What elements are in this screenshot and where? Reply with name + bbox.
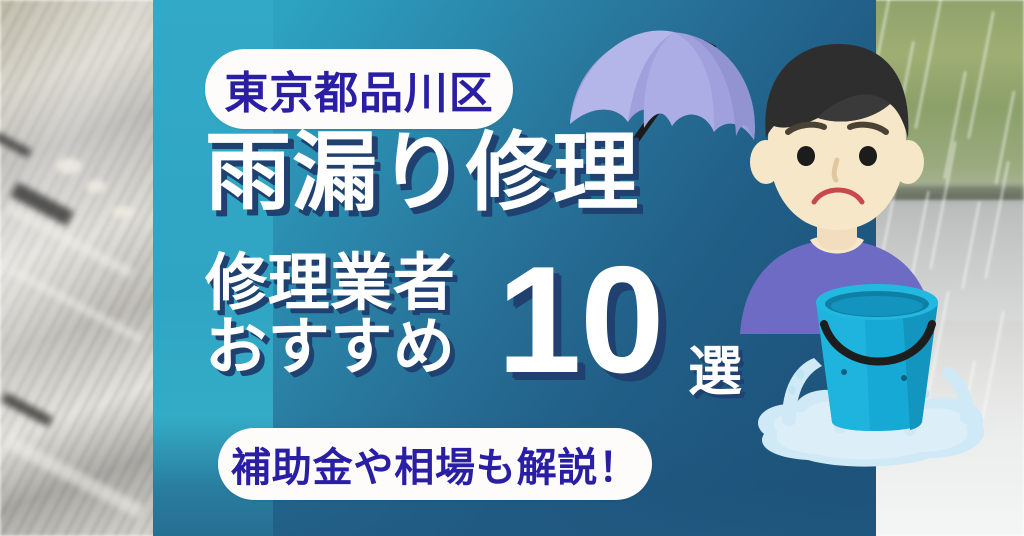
- subheadline: 修理業者 おすすめ: [205, 252, 455, 380]
- subsidy-pill-label: 補助金や相場も解説！: [231, 435, 639, 493]
- region-pill: 東京都品川区: [205, 49, 513, 129]
- count-number: 10: [497, 244, 663, 396]
- headline: 雨漏り修理: [205, 131, 639, 215]
- leak-repair-banner: 東京都品川区 雨漏り修理 修理業者 おすすめ 10 選 補助金や相場も解説！: [0, 0, 1024, 536]
- subheadline-line2: おすすめ: [205, 316, 455, 380]
- banner-copy: 東京都品川区 雨漏り修理 修理業者 おすすめ 10 選 補助金や相場も解説！: [0, 0, 1024, 536]
- subheadline-line1: 修理業者: [205, 252, 455, 316]
- count-suffix: 選: [688, 345, 742, 399]
- region-pill-label: 東京都品川区: [224, 57, 493, 121]
- subsidy-pill: 補助金や相場も解説！: [218, 428, 652, 500]
